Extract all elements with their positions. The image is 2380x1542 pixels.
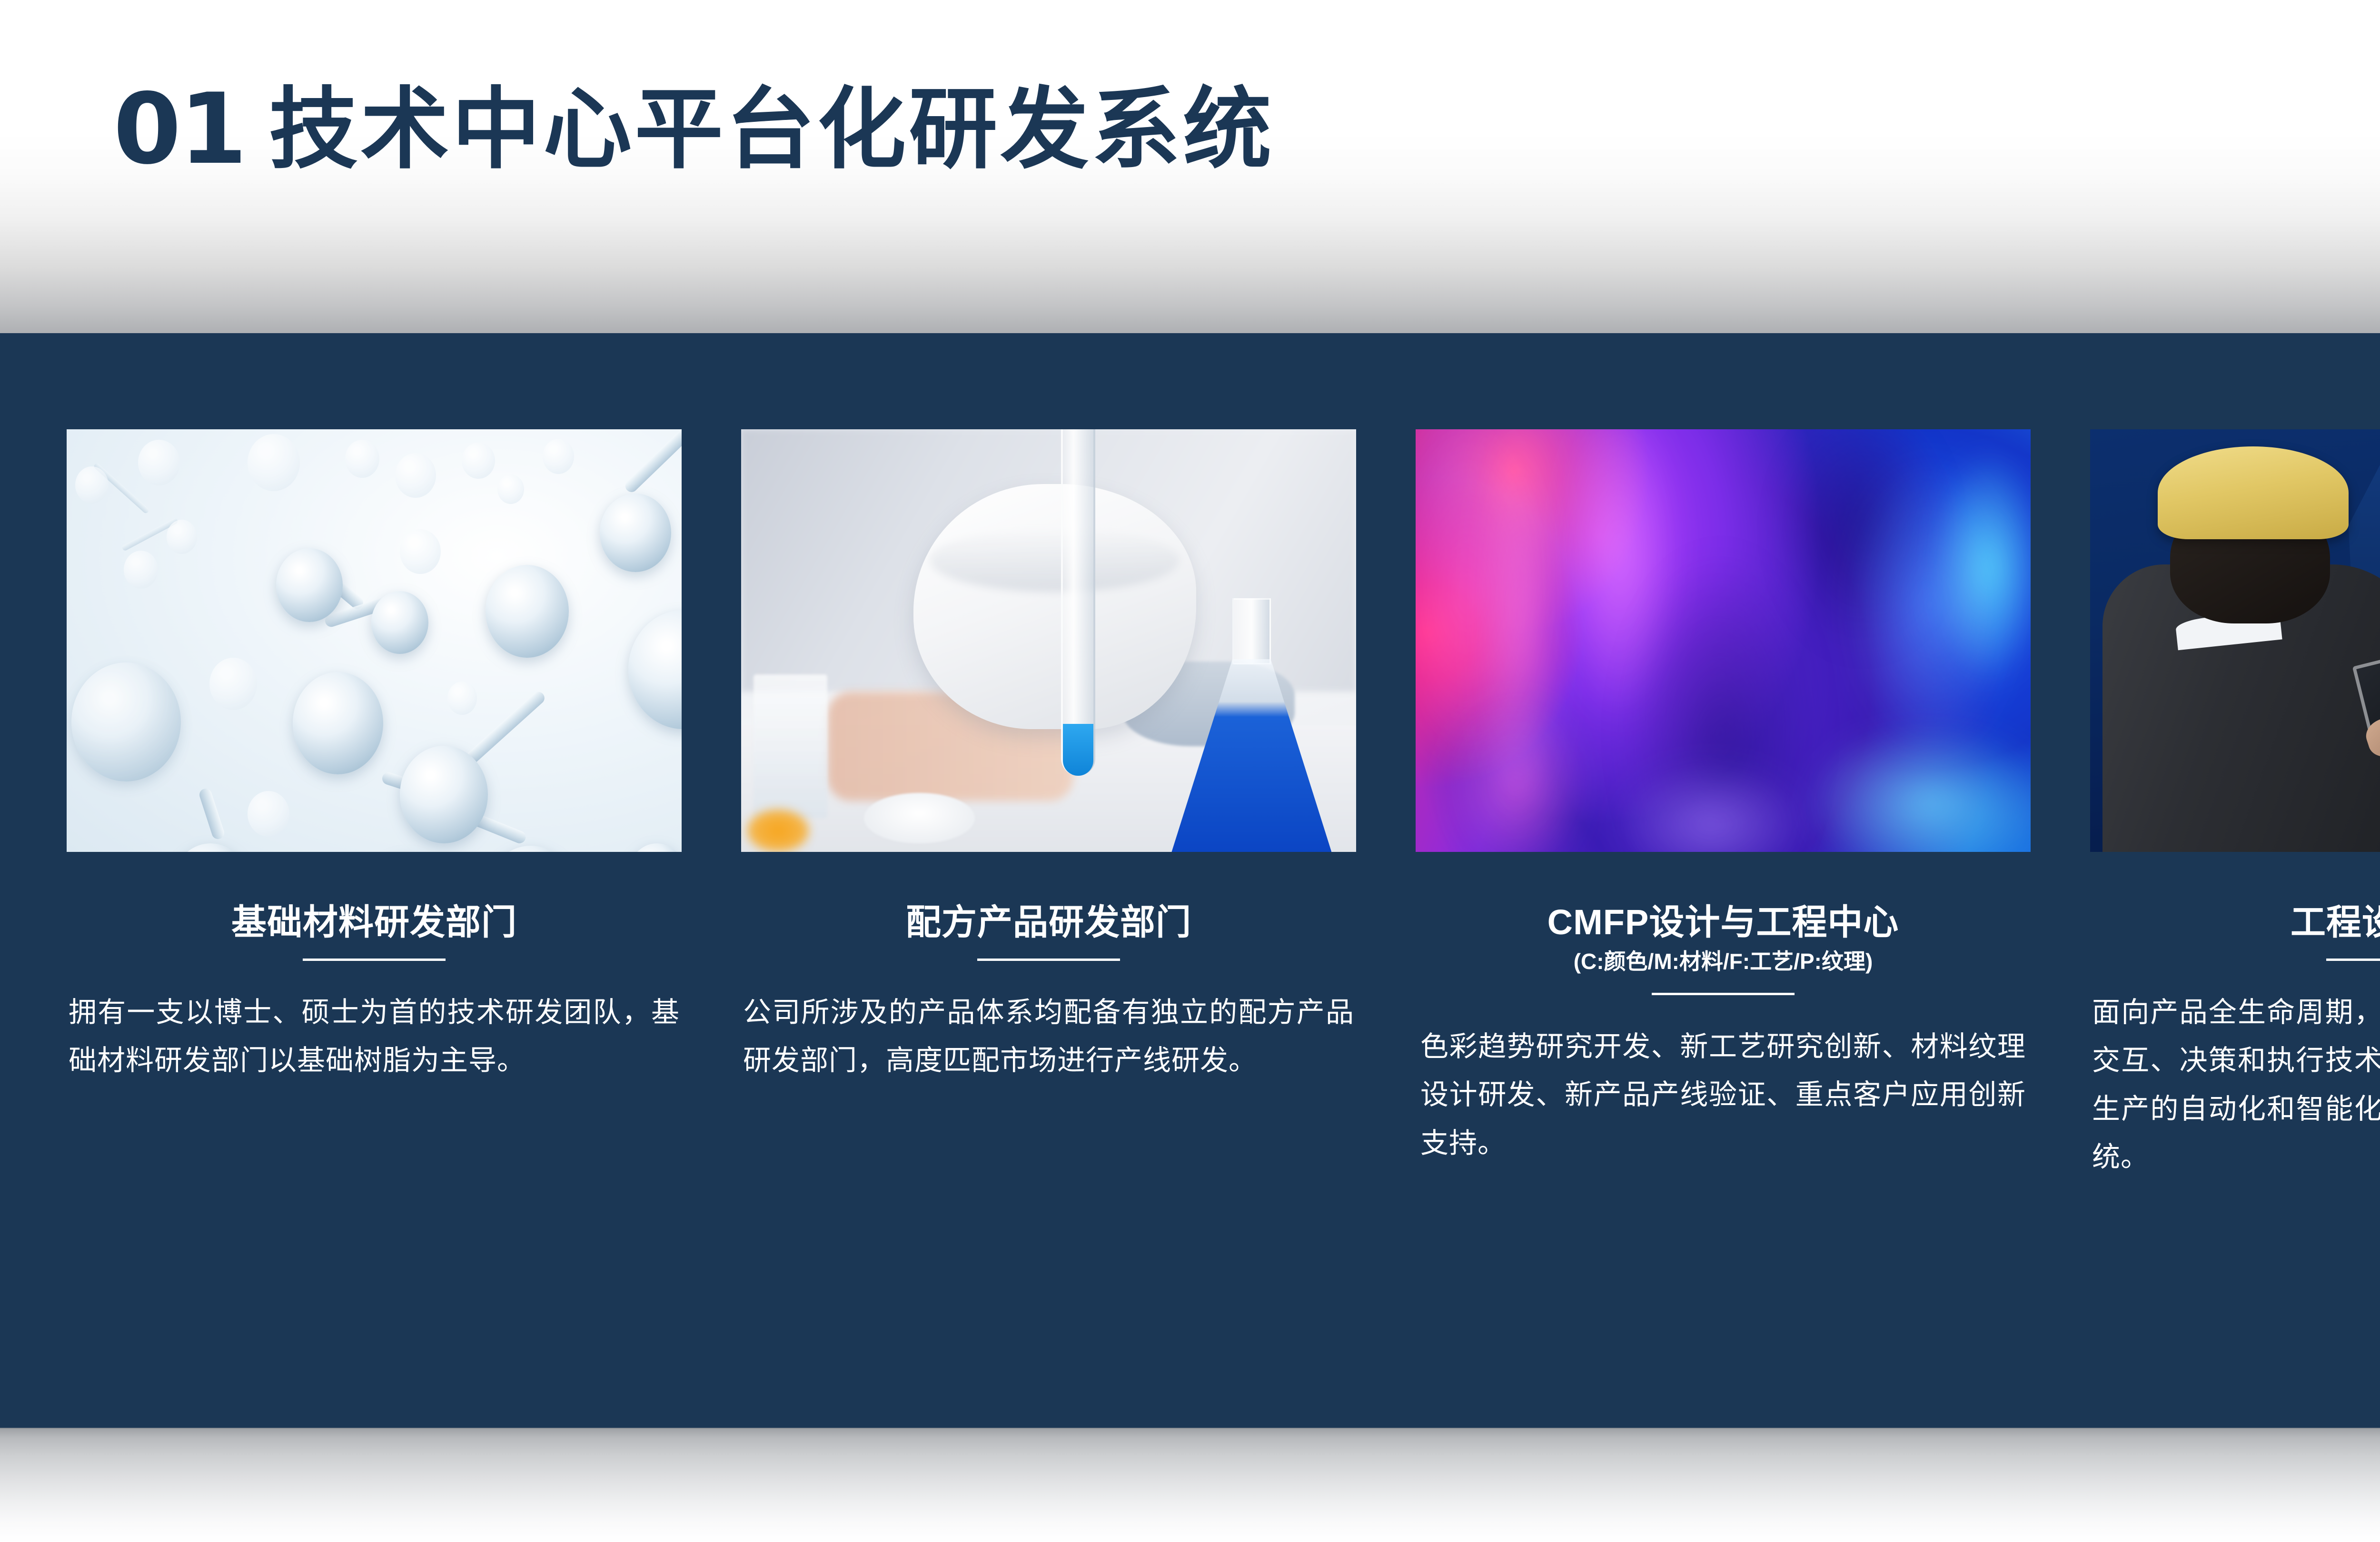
card-title: 基础材料研发部门 [67,903,682,941]
card-engineering-design[interactable]: 工程设计中心 面向产品全生命周期，通过智能化的感知、人机交互、决策和执行技术，实… [2090,429,2380,1182]
card-divider [1652,993,1795,995]
card-divider [303,959,446,961]
slide-root: 01 技术中心平台化研发系统 [0,0,2380,1542]
section-number: 01 [113,81,245,178]
lab-test-tube-image [741,429,1356,852]
card-divider-wrap [1416,993,2031,995]
card-grid: 基础材料研发部门 拥有一支以博士、硕士为首的技术研发团队，基础材料研发部门以基础… [67,429,2380,1182]
card-body: 公司所涉及的产品体系均配备有独立的配方产品研发部门，高度匹配市场进行产线研发。 [741,988,1356,1085]
card-basic-materials[interactable]: 基础材料研发部门 拥有一支以博士、硕士为首的技术研发团队，基础材料研发部门以基础… [67,429,682,1182]
abstract-color-fluid-image [1416,429,2031,852]
card-divider-wrap [67,959,682,961]
card-title: 工程设计中心 [2090,903,2380,941]
card-title: CMFP设计与工程中心 [1416,903,2031,941]
page-title: 技术中心平台化研发系统 [269,86,1274,174]
molecule-structure-image [67,429,682,852]
card-body: 面向产品全生命周期，通过智能化的感知、人机交互、决策和执行技术，实现设计、制造装… [2090,988,2380,1182]
footer-band [0,1429,2380,1542]
card-divider-wrap [2090,959,2380,961]
engineer-hologram-city-image [2090,429,2380,852]
slide-title-row: 01 技术中心平台化研发系统 [113,81,1274,178]
card-divider [2326,959,2380,961]
card-subtitle: (C:颜色/M:材料/F:工艺/P:纹理) [1416,944,2031,976]
card-divider-wrap [741,959,1356,961]
card-body: 拥有一支以博士、硕士为首的技术研发团队，基础材料研发部门以基础树脂为主导。 [67,988,682,1085]
card-body: 色彩趋势研究开发、新工艺研究创新、材料纹理设计研发、新产品产线验证、重点客户应用… [1416,1023,2031,1167]
card-cmfp-center[interactable]: CMFP设计与工程中心 (C:颜色/M:材料/F:工艺/P:纹理) 色彩趋势研究… [1416,429,2031,1182]
card-title: 配方产品研发部门 [741,903,1356,941]
header-band: 01 技术中心平台化研发系统 [0,0,2380,333]
content-panel: 基础材料研发部门 拥有一支以博士、硕士为首的技术研发团队，基础材料研发部门以基础… [0,333,2380,1429]
card-divider [977,959,1120,961]
card-formula-products[interactable]: 配方产品研发部门 公司所涉及的产品体系均配备有独立的配方产品研发部门，高度匹配市… [741,429,1356,1182]
